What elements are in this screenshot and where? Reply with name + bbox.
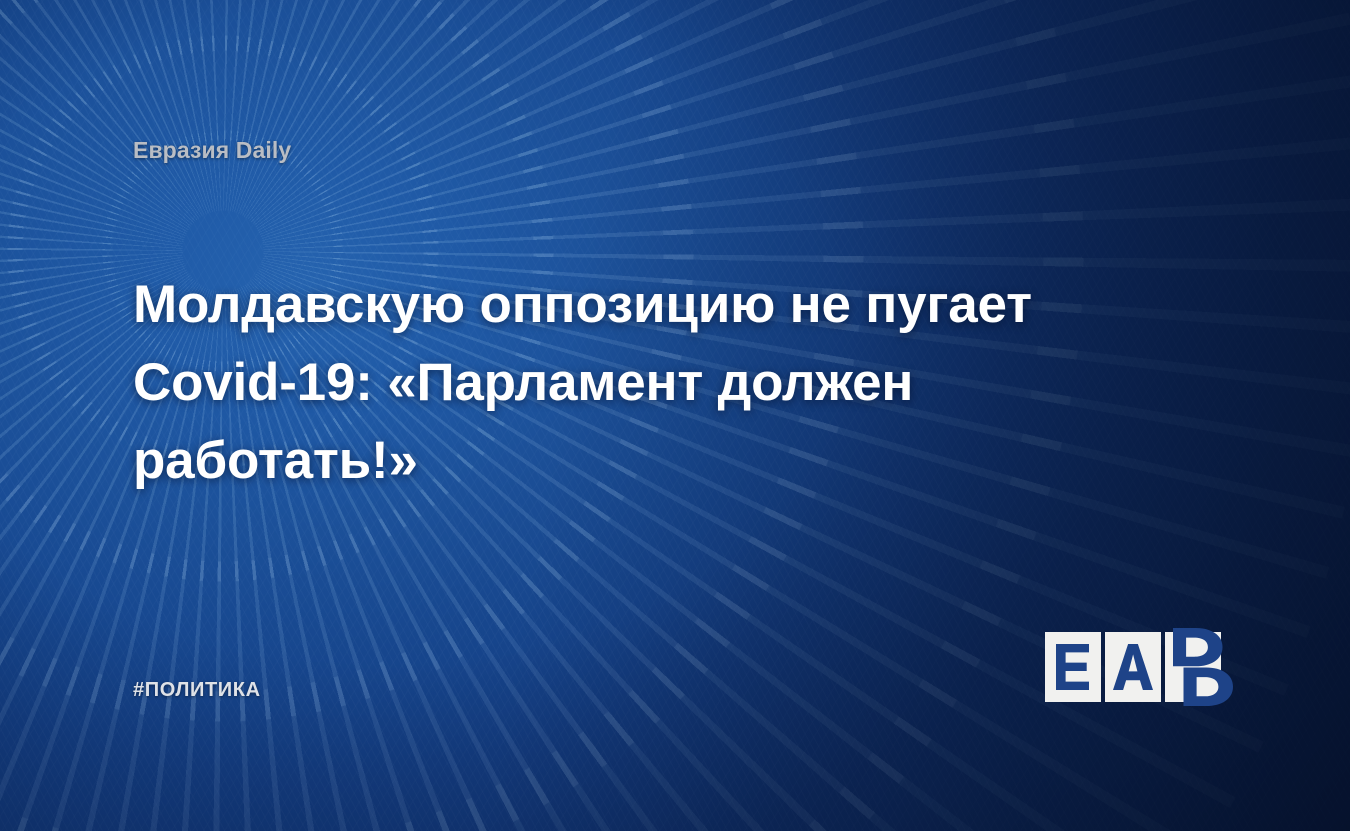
logo-tile-a	[1105, 632, 1161, 702]
logo-tile-e	[1045, 632, 1101, 702]
logo-tile-d	[1165, 632, 1221, 702]
eadaily-logo[interactable]	[1045, 632, 1225, 702]
logo-letter-a-icon	[1113, 644, 1153, 690]
hashtag-politics[interactable]: #ПОЛИТИКА	[133, 679, 261, 702]
logo-letter-e-icon	[1056, 644, 1090, 690]
social-share-card: Евразия Daily Молдавскую оппозицию не пу…	[0, 0, 1350, 831]
brand-name: Евразия Daily	[133, 137, 291, 164]
headline: Молдавскую оппозицию не пугает Covid-19:…	[133, 266, 1093, 500]
